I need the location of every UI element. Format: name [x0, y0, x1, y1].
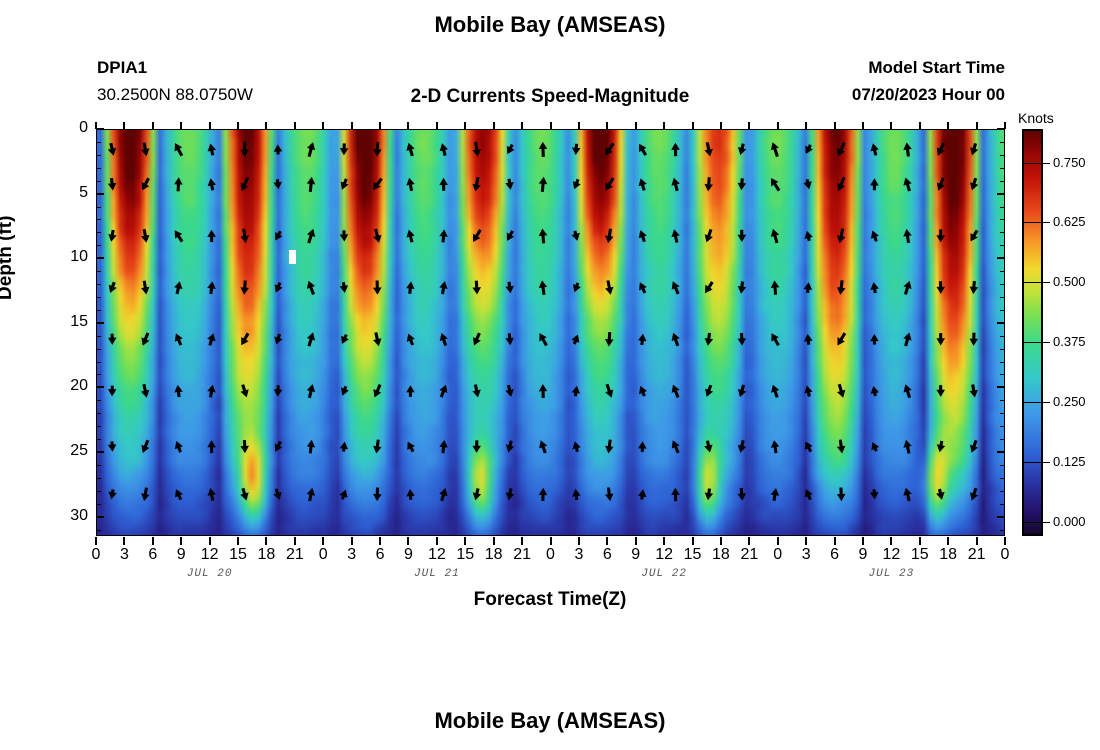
y-axis-minor-tick — [96, 142, 101, 143]
x-axis-tick — [890, 122, 892, 129]
y-axis-minor-tick — [96, 491, 101, 492]
y-axis-minor-tick — [96, 530, 101, 531]
x-axis-tick — [521, 122, 523, 129]
x-axis-tick — [692, 537, 694, 545]
bottom-caption: Mobile Bay (AMSEAS) — [0, 708, 1100, 734]
y-axis-minor-tick — [1000, 478, 1005, 479]
x-axis-tick — [152, 537, 154, 545]
x-axis-tick — [748, 122, 750, 129]
x-axis-tick — [95, 122, 97, 129]
x-axis-tick — [635, 122, 637, 129]
x-axis-tick — [862, 537, 864, 545]
colorbar-tick-line — [1022, 282, 1043, 283]
x-axis-tick — [1004, 122, 1006, 129]
y-axis-tick — [997, 451, 1005, 453]
y-axis-minor-tick — [1000, 362, 1005, 363]
x-axis-tick — [578, 537, 580, 545]
y-axis-minor-tick — [96, 439, 101, 440]
x-axis-tick — [265, 537, 267, 545]
x-axis-tick — [919, 537, 921, 545]
y-axis-tick — [96, 386, 104, 388]
x-axis-tick — [521, 537, 523, 545]
y-axis-tick — [997, 516, 1005, 518]
station-id: DPIA1 — [97, 58, 147, 78]
x-axis-tick — [237, 122, 239, 129]
y-axis-minor-tick — [1000, 413, 1005, 414]
x-axis-tick — [436, 122, 438, 129]
x-axis-tick — [180, 122, 182, 129]
x-axis-tick — [95, 537, 97, 545]
y-axis-minor-tick — [96, 336, 101, 337]
render-artifact — [289, 250, 296, 264]
x-axis-tick — [834, 537, 836, 545]
y-axis-minor-tick — [1000, 439, 1005, 440]
x-axis-tick — [322, 122, 324, 129]
y-axis-minor-tick — [1000, 155, 1005, 156]
colorbar-tick — [1043, 282, 1050, 283]
y-axis-minor-tick — [1000, 465, 1005, 466]
y-axis-minor-tick — [96, 181, 101, 182]
y-axis-minor-tick — [96, 400, 101, 401]
y-axis-tick — [997, 193, 1005, 195]
colorbar-tick-line — [1022, 462, 1043, 463]
y-axis-minor-tick — [1000, 426, 1005, 427]
y-axis-tick — [96, 128, 104, 130]
y-axis-tick — [997, 257, 1005, 259]
x-axis-tick — [294, 537, 296, 545]
y-axis-minor-tick — [1000, 284, 1005, 285]
y-axis-minor-tick — [1000, 349, 1005, 350]
x-axis-tick — [919, 122, 921, 129]
y-axis-minor-tick — [96, 219, 101, 220]
y-axis-tick-label: 5 — [48, 184, 88, 202]
y-axis-minor-tick — [96, 168, 101, 169]
x-axis-tick — [407, 122, 409, 129]
model-start-time-label: Model Start Time — [868, 58, 1005, 78]
x-axis-tick — [805, 122, 807, 129]
y-axis-tick — [997, 386, 1005, 388]
x-axis-tick — [379, 122, 381, 129]
x-axis-tick — [493, 537, 495, 545]
y-axis-minor-tick — [1000, 142, 1005, 143]
x-axis-tick — [720, 122, 722, 129]
y-axis-minor-tick — [1000, 374, 1005, 375]
y-axis-tick-label: 30 — [48, 507, 88, 525]
colorbar-tick-label: 0.000 — [1053, 514, 1086, 529]
y-axis-minor-tick — [96, 284, 101, 285]
y-axis-minor-tick — [96, 465, 101, 466]
x-axis-tick — [834, 122, 836, 129]
y-axis-minor-tick — [96, 478, 101, 479]
colorbar-tick-label: 0.250 — [1053, 394, 1086, 409]
y-axis-minor-tick — [96, 349, 101, 350]
y-axis-tick — [96, 451, 104, 453]
y-axis-minor-tick — [1000, 297, 1005, 298]
y-axis-minor-tick — [96, 232, 101, 233]
x-axis-day-label: JUL 21 — [377, 568, 497, 580]
y-axis-minor-tick — [1000, 336, 1005, 337]
colorbar-tick — [1043, 163, 1050, 164]
x-axis-tick — [351, 122, 353, 129]
x-axis-tick — [947, 122, 949, 129]
x-axis-tick — [777, 537, 779, 545]
y-axis-minor-tick — [96, 362, 101, 363]
x-axis-tick — [322, 537, 324, 545]
x-axis-tick — [493, 122, 495, 129]
x-axis-tick — [464, 537, 466, 545]
y-axis-tick-label: 0 — [48, 119, 88, 137]
x-axis-tick — [663, 122, 665, 129]
y-axis-minor-tick — [1000, 168, 1005, 169]
x-axis-tick — [237, 537, 239, 545]
model-start-time-value: 07/20/2023 Hour 00 — [852, 85, 1005, 105]
x-axis-tick — [748, 537, 750, 545]
y-axis-minor-tick — [1000, 310, 1005, 311]
colorbar-gradient — [1024, 131, 1041, 534]
y-axis-minor-tick — [1000, 207, 1005, 208]
x-axis-tick — [379, 537, 381, 545]
colorbar-tick-label: 0.375 — [1053, 334, 1086, 349]
y-axis-minor-tick — [96, 374, 101, 375]
y-axis-minor-tick — [96, 426, 101, 427]
colorbar-tick-label: 0.125 — [1053, 454, 1086, 469]
x-axis-day-label: JUL 20 — [150, 568, 270, 580]
y-axis-title: Depth (ft) — [0, 216, 17, 300]
x-axis-tick — [351, 537, 353, 545]
x-axis-tick — [862, 122, 864, 129]
y-axis-minor-tick — [96, 504, 101, 505]
colorbar-tick-line — [1022, 163, 1043, 164]
x-axis-tick — [976, 537, 978, 545]
x-axis-tick — [265, 122, 267, 129]
y-axis-tick-label: 20 — [48, 377, 88, 395]
y-axis-minor-tick — [1000, 181, 1005, 182]
x-axis-tick — [692, 122, 694, 129]
y-axis-tick-label: 25 — [48, 442, 88, 460]
x-axis-tick — [550, 537, 552, 545]
x-axis-tick — [1004, 537, 1006, 545]
y-axis-minor-tick — [96, 207, 101, 208]
y-axis-minor-tick — [1000, 400, 1005, 401]
x-axis-day-label: JUL 22 — [604, 568, 724, 580]
y-axis-minor-tick — [1000, 219, 1005, 220]
page-title: Mobile Bay (AMSEAS) — [0, 12, 1100, 38]
x-axis-tick — [436, 537, 438, 545]
x-axis-tick — [777, 122, 779, 129]
colorbar-tick-label: 0.750 — [1053, 155, 1086, 170]
y-axis-tick — [96, 322, 104, 324]
y-axis-tick-label: 15 — [48, 313, 88, 331]
y-axis-minor-tick — [96, 297, 101, 298]
x-axis-tick — [464, 122, 466, 129]
y-axis-minor-tick — [1000, 232, 1005, 233]
colorbar-tick-line — [1022, 222, 1043, 223]
x-axis-tick — [720, 537, 722, 545]
x-axis-tick — [976, 122, 978, 129]
colorbar-tick-line — [1022, 522, 1043, 523]
x-axis-tick — [294, 122, 296, 129]
x-axis-tick — [209, 122, 211, 129]
x-axis-day-label: JUL 23 — [831, 568, 951, 580]
y-axis-minor-tick — [96, 310, 101, 311]
colorbar-tick — [1043, 522, 1050, 523]
x-axis-tick — [805, 537, 807, 545]
colorbar-tick-line — [1022, 402, 1043, 403]
y-axis-minor-tick — [1000, 245, 1005, 246]
y-axis-minor-tick — [96, 271, 101, 272]
y-axis-minor-tick — [96, 245, 101, 246]
colorbar-tick-label: 0.625 — [1053, 214, 1086, 229]
x-axis-tick — [123, 122, 125, 129]
colorbar-tick-label: 0.500 — [1053, 274, 1086, 289]
x-axis-tick — [209, 537, 211, 545]
x-axis-tick — [606, 537, 608, 545]
x-axis-tick — [578, 122, 580, 129]
x-axis-tick — [180, 537, 182, 545]
y-axis-tick — [96, 193, 104, 195]
x-axis-tick — [947, 537, 949, 545]
y-axis-tick — [96, 257, 104, 259]
colorbar-title: Knots — [1018, 110, 1054, 126]
y-axis-tick — [997, 322, 1005, 324]
x-axis-tick — [407, 537, 409, 545]
y-axis-minor-tick — [1000, 271, 1005, 272]
x-axis-tick — [550, 122, 552, 129]
colorbar-tick — [1043, 342, 1050, 343]
y-axis-minor-tick — [96, 413, 101, 414]
speed-magnitude-field — [97, 130, 1005, 536]
y-axis-minor-tick — [1000, 530, 1005, 531]
colorbar-tick-line — [1022, 342, 1043, 343]
x-axis-tick — [663, 537, 665, 545]
colorbar-tick — [1043, 222, 1050, 223]
x-axis-tick — [152, 122, 154, 129]
x-axis-tick — [606, 122, 608, 129]
y-axis-minor-tick — [1000, 491, 1005, 492]
y-axis-minor-tick — [1000, 504, 1005, 505]
y-axis-tick — [96, 516, 104, 518]
colorbar-tick — [1043, 402, 1050, 403]
y-axis-minor-tick — [96, 155, 101, 156]
x-axis-tick — [635, 537, 637, 545]
colorbar-tick — [1043, 462, 1050, 463]
x-axis-tick — [890, 537, 892, 545]
x-axis-tick — [123, 537, 125, 545]
current-profile-heatmap — [96, 129, 1005, 536]
x-axis-title: Forecast Time(Z) — [0, 589, 1100, 611]
y-axis-tick-label: 10 — [48, 248, 88, 266]
colorbar — [1022, 129, 1043, 536]
x-axis-tick-label: 0 — [985, 546, 1025, 564]
